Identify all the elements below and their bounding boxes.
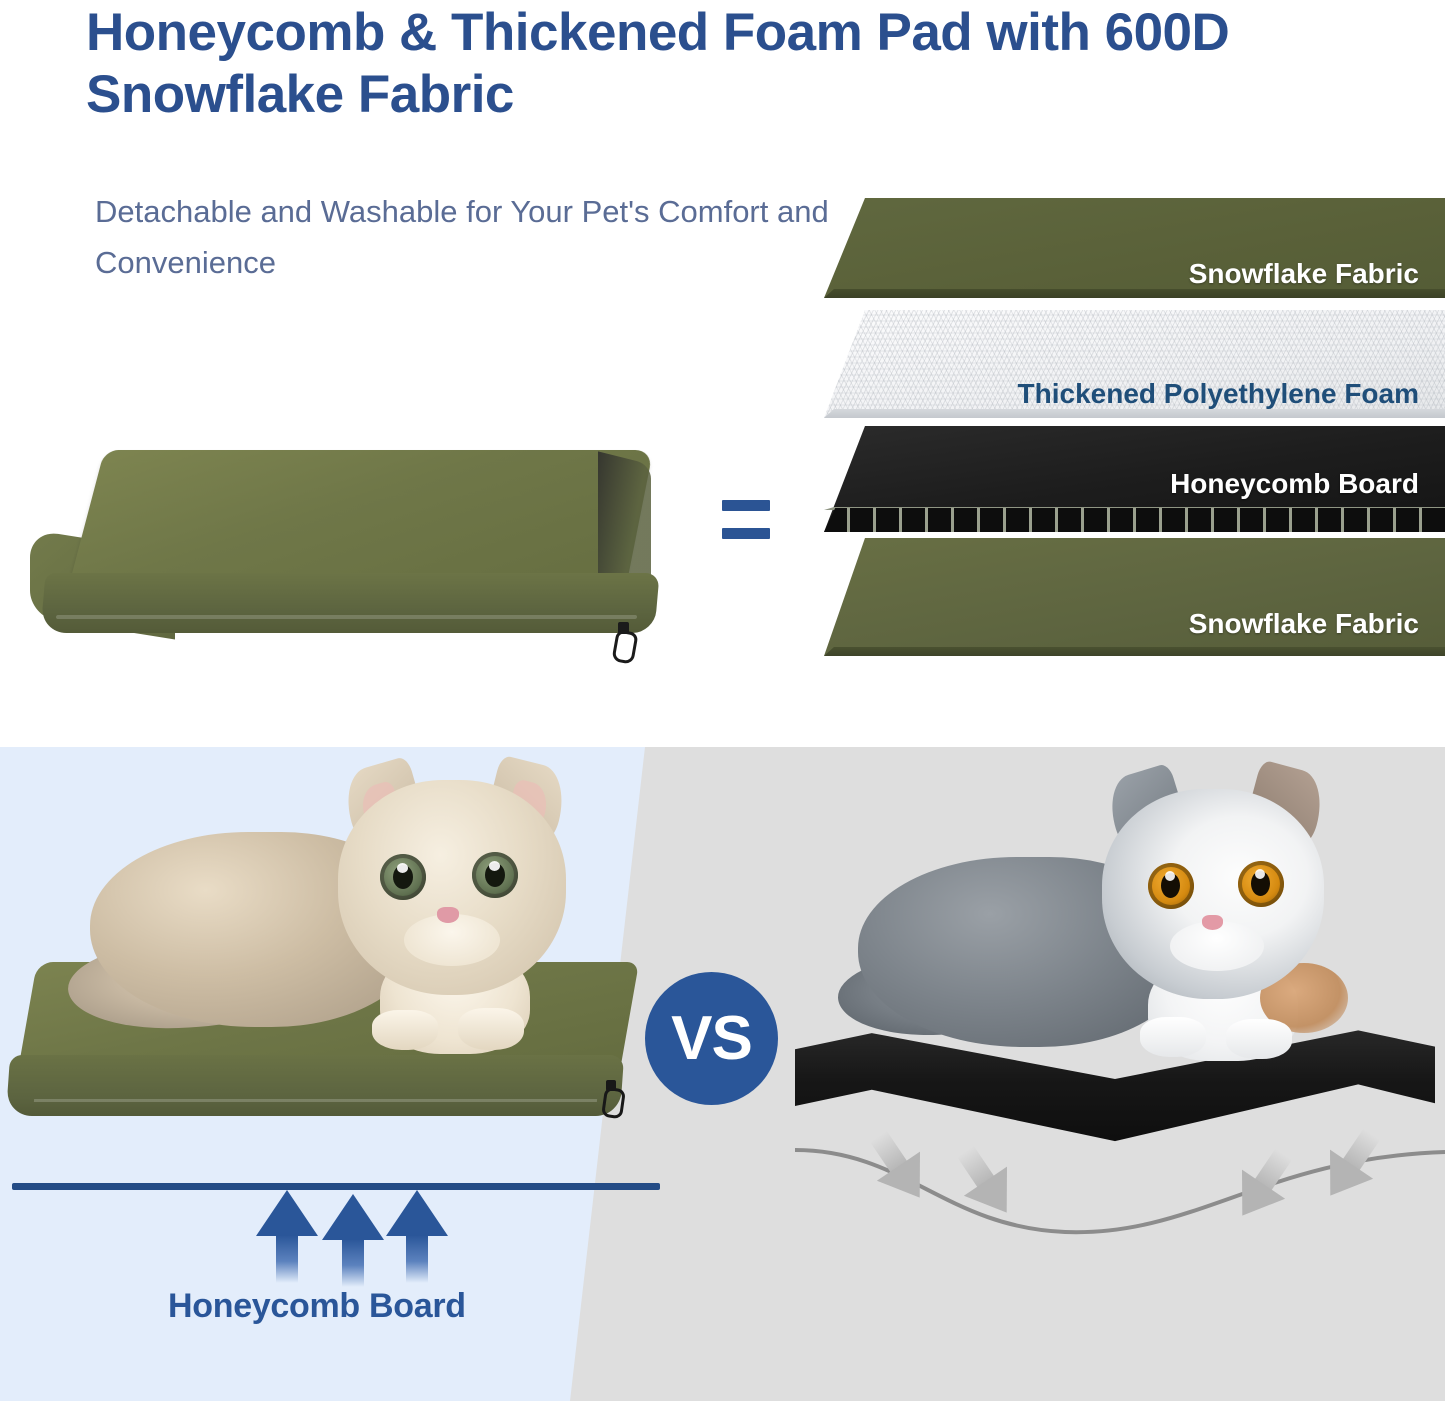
layer-stack-diagram: Snowflake Fabric Thickened Polyethylene … <box>824 198 1445 658</box>
layer-label: Snowflake Fabric <box>1189 608 1419 640</box>
cat-on-honeycomb-pad <box>60 762 600 1052</box>
equals-icon <box>722 500 782 554</box>
label-honeycomb-board: Honeycomb Board <box>168 1287 466 1326</box>
support-line <box>12 1183 660 1190</box>
zipper-pull-icon <box>614 622 636 656</box>
vs-badge: VS <box>645 972 778 1105</box>
layer-snowflake-fabric-top: Snowflake Fabric <box>824 198 1445 298</box>
layer-snowflake-fabric-bottom: Snowflake Fabric <box>824 538 1445 656</box>
page-subtitle: Detachable and Washable for Your Pet's C… <box>95 186 925 288</box>
infographic-page: Honeycomb & Thickened Foam Pad with 600D… <box>0 0 1445 1401</box>
product-pad-image <box>30 440 690 670</box>
layer-polyethylene-foam: Thickened Polyethylene Foam <box>824 310 1445 418</box>
honeycomb-flutes <box>824 508 1445 532</box>
up-arrow-icon <box>386 1190 448 1282</box>
top-section: Honeycomb & Thickened Foam Pad with 600D… <box>0 0 1445 747</box>
page-title: Honeycomb & Thickened Foam Pad with 600D… <box>86 2 1426 126</box>
up-arrow-icon <box>322 1194 384 1286</box>
pad-body <box>30 440 690 670</box>
comparison-section: VS Honeycomb Board PP Board <box>0 747 1445 1401</box>
layer-label: Honeycomb Board <box>1170 468 1419 500</box>
up-arrow-icon <box>256 1190 318 1282</box>
pad-front-face <box>41 573 660 633</box>
cat-on-pp-board <box>830 767 1390 1067</box>
pad-seam <box>56 615 637 619</box>
layer-label: Snowflake Fabric <box>1189 258 1419 290</box>
layer-honeycomb-board: Honeycomb Board <box>824 426 1445 532</box>
layer-label: Thickened Polyethylene Foam <box>1018 378 1419 410</box>
vs-badge-label: VS <box>671 1003 752 1074</box>
zipper-pull-icon <box>603 1080 623 1112</box>
